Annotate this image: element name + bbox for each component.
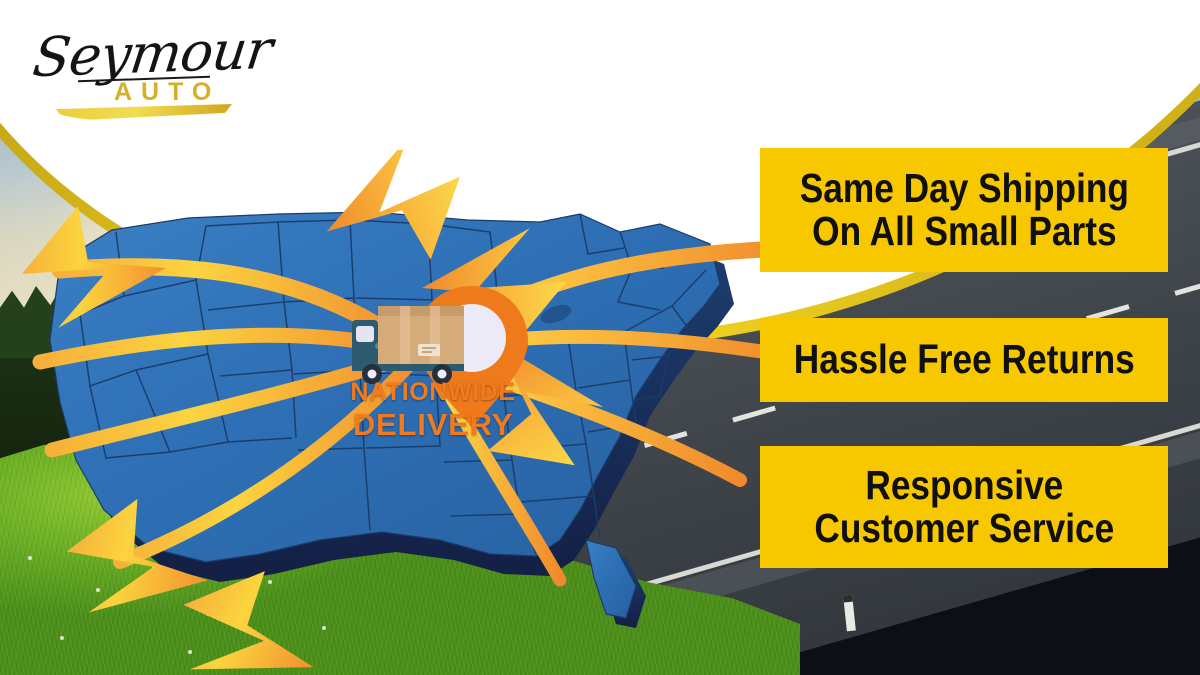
feature-panel-responsive-customer-service[interactable]: Responsive Customer Service (760, 446, 1168, 568)
feature-panel-hassle-free-returns[interactable]: Hassle Free Returns (760, 318, 1168, 402)
arrow-head (158, 545, 342, 670)
feature-panel-text: Hassle Free Returns (793, 338, 1134, 381)
brand-logo[interactable]: Seymour AUTO (26, 20, 236, 125)
logo-swoosh-icon (56, 104, 232, 121)
feature-panel-text: Same Day Shipping On All Small Parts (799, 167, 1128, 254)
nationwide-delivery-caption: NATIONWIDE DELIVERY (318, 380, 548, 440)
caption-line-1: NATIONWIDE (318, 380, 548, 406)
delivery-truck-icon (352, 306, 464, 384)
arrow-head (54, 485, 223, 638)
caption-line-2: DELIVERY (318, 409, 548, 441)
feature-panel-same-day-shipping[interactable]: Same Day Shipping On All Small Parts (760, 148, 1168, 272)
promo-banner: Seymour AUTO (0, 0, 1200, 675)
arrow-head (22, 206, 166, 328)
brand-subtitle: AUTO (114, 78, 220, 107)
feature-panel-text: Responsive Customer Service (814, 464, 1114, 551)
